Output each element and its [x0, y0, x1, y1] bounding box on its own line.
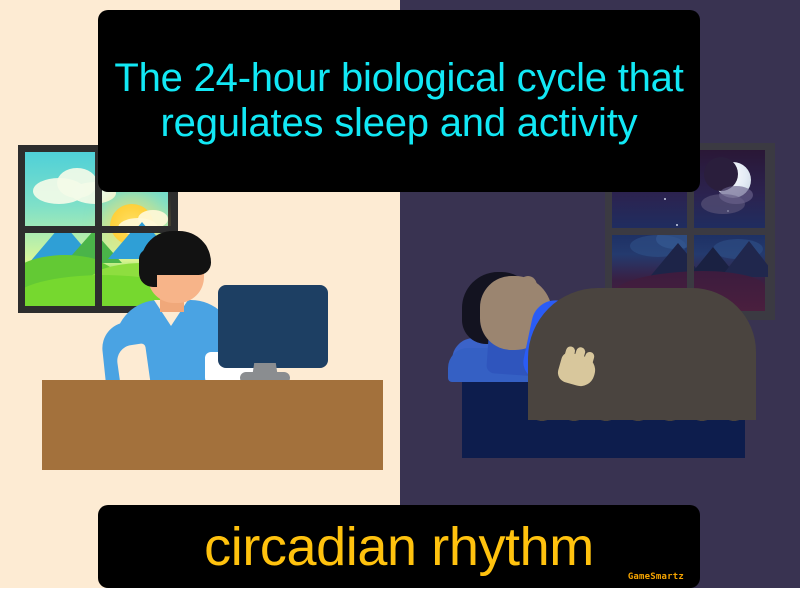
computer-monitor-icon — [218, 285, 328, 368]
day-sky — [25, 152, 95, 226]
flashcard-image: The 24-hour biological cycle that regula… — [0, 0, 800, 600]
day-window-pane-top-left — [25, 152, 95, 226]
term-text: circadian rhythm — [98, 505, 700, 588]
mountain-shape — [108, 222, 172, 226]
bottom-strip — [0, 588, 800, 600]
star-icon — [676, 224, 678, 226]
worker-hair-tuft — [186, 240, 208, 274]
sleeper-ear — [519, 276, 537, 296]
term-panel: circadian rhythm GameSmartz — [98, 505, 700, 588]
definition-text: The 24-hour biological cycle that regula… — [112, 56, 686, 146]
definition-panel: The 24-hour biological cycle that regula… — [98, 10, 700, 192]
desk — [42, 380, 383, 470]
cloud-icon — [719, 186, 753, 204]
watermark-label: GameSmartz — [628, 572, 684, 582]
star-icon — [664, 198, 666, 200]
day-sky — [25, 233, 95, 303]
night-window-pane-top-right — [694, 150, 769, 228]
blanket-edge — [528, 386, 756, 420]
night-sky — [694, 150, 765, 228]
day-window-pane-bottom-left — [25, 233, 95, 307]
